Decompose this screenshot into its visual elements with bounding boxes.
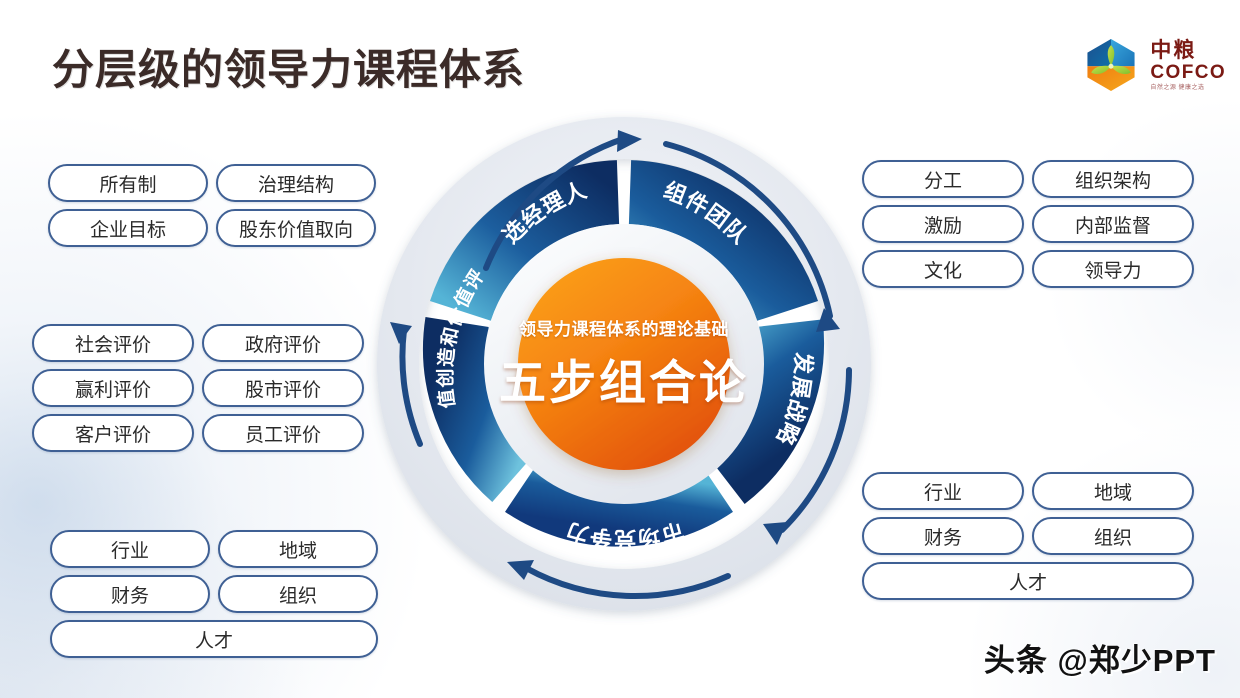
pill-item[interactable]: 内部监督 bbox=[1032, 205, 1194, 243]
pill-item[interactable]: 行业 bbox=[50, 530, 210, 568]
pill-item[interactable]: 人才 bbox=[50, 620, 378, 658]
cofco-logo: 中粮 COFCO 自然之源 健康之选 bbox=[1080, 34, 1226, 96]
pill-row: 客户评价 员工评价 bbox=[32, 414, 364, 452]
group-organization: 分工 组织架构 激励 内部监督 文化 领导力 bbox=[862, 160, 1194, 288]
pill-item[interactable]: 股东价值取向 bbox=[216, 209, 376, 247]
pill-item[interactable]: 赢利评价 bbox=[32, 369, 194, 407]
pill-item[interactable]: 治理结构 bbox=[216, 164, 376, 202]
pill-item[interactable]: 财务 bbox=[50, 575, 210, 613]
pill-row: 激励 内部监督 bbox=[862, 205, 1194, 243]
pill-row: 社会评价 政府评价 bbox=[32, 324, 364, 362]
pill-item[interactable]: 客户评价 bbox=[32, 414, 194, 452]
pill-item[interactable]: 股市评价 bbox=[202, 369, 364, 407]
pill-item[interactable]: 人才 bbox=[862, 562, 1194, 600]
pill-item[interactable]: 组织 bbox=[218, 575, 378, 613]
watermark: 头条 @郑少PPT bbox=[984, 635, 1216, 680]
logo-name-en: COFCO bbox=[1150, 63, 1226, 82]
core-circle bbox=[518, 258, 730, 470]
logo-tagline: 自然之源 健康之选 bbox=[1150, 85, 1204, 91]
pill-item[interactable]: 组织 bbox=[1032, 517, 1194, 555]
pill-item[interactable]: 文化 bbox=[862, 250, 1024, 288]
pill-row: 人才 bbox=[862, 562, 1194, 600]
cofco-cube-logo-icon bbox=[1080, 34, 1142, 96]
group-ownership: 所有制 治理结构 企业目标 股东价值取向 bbox=[48, 164, 376, 247]
logo-name-cn: 中粮 bbox=[1150, 40, 1196, 61]
page-title: 分层级的领导力课程体系 bbox=[52, 36, 525, 97]
pill-row: 财务 组织 bbox=[50, 575, 378, 613]
pill-row: 行业 地域 bbox=[50, 530, 378, 568]
five-step-wheel-diagram: 选经理人 组件团队 发展战略 市场竞争力 价值创造和价值评估 bbox=[368, 108, 880, 620]
pill-item[interactable]: 社会评价 bbox=[32, 324, 194, 362]
pill-item[interactable]: 地域 bbox=[1032, 472, 1194, 510]
pill-item[interactable]: 组织架构 bbox=[1032, 160, 1194, 198]
group-context-right: 行业 地域 财务 组织 人才 bbox=[862, 472, 1194, 600]
pill-row: 所有制 治理结构 bbox=[48, 164, 376, 202]
pill-item[interactable]: 地域 bbox=[218, 530, 378, 568]
pill-item[interactable]: 政府评价 bbox=[202, 324, 364, 362]
group-evaluation: 社会评价 政府评价 赢利评价 股市评价 客户评价 员工评价 bbox=[32, 324, 364, 452]
pill-row: 行业 地域 bbox=[862, 472, 1194, 510]
pill-item[interactable]: 企业目标 bbox=[48, 209, 208, 247]
pill-row: 企业目标 股东价值取向 bbox=[48, 209, 376, 247]
pill-row: 文化 领导力 bbox=[862, 250, 1194, 288]
pill-item[interactable]: 行业 bbox=[862, 472, 1024, 510]
pill-item[interactable]: 财务 bbox=[862, 517, 1024, 555]
pill-item[interactable]: 所有制 bbox=[48, 164, 208, 202]
group-context-left: 行业 地域 财务 组织 人才 bbox=[50, 530, 378, 658]
slide-canvas: 分层级的领导力课程体系 bbox=[0, 0, 1240, 698]
pill-item[interactable]: 员工评价 bbox=[202, 414, 364, 452]
pill-row: 财务 组织 bbox=[862, 517, 1194, 555]
pill-item[interactable]: 领导力 bbox=[1032, 250, 1194, 288]
pill-row: 分工 组织架构 bbox=[862, 160, 1194, 198]
logo-wordmark: 中粮 COFCO 自然之源 健康之选 bbox=[1150, 40, 1226, 91]
pill-row: 人才 bbox=[50, 620, 378, 658]
pill-item[interactable]: 激励 bbox=[862, 205, 1024, 243]
pill-item[interactable]: 分工 bbox=[862, 160, 1024, 198]
pill-row: 赢利评价 股市评价 bbox=[32, 369, 364, 407]
